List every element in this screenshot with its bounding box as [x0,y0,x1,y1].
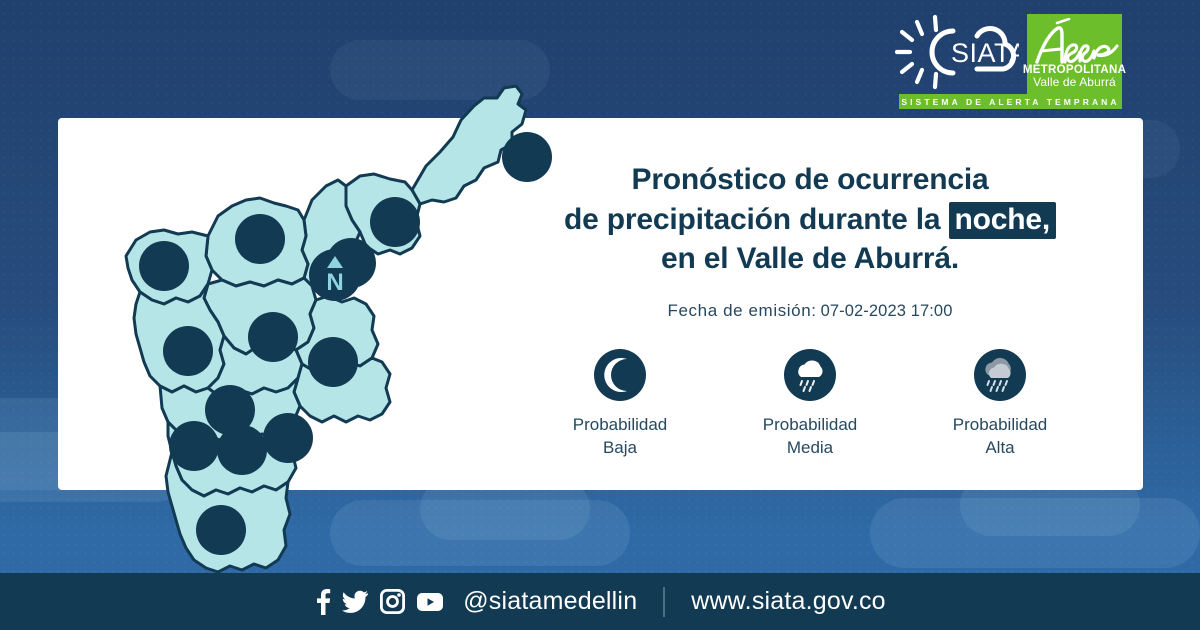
marker-bello[interactable] [248,312,298,362]
legend-alta-line2: Alta [953,437,1048,460]
marker-san-pedro[interactable] [235,214,285,264]
issued-label: Fecha de emisión: [668,301,817,320]
valle-de-aburra-map: N [60,40,530,580]
siata-wordmark: SIATA [951,38,1019,68]
legend-caption-baja: Probabilidad Baja [573,414,668,460]
marker-la-estrella[interactable] [217,425,267,475]
page-title: Pronóstico de ocurrencia de precipitació… [470,160,1150,279]
siata-logo: SIATA [891,14,1019,90]
legend-item-media: Probabilidad Media [715,349,905,460]
legend-item-baja: Probabilidad Baja [525,349,715,460]
marker-caldas[interactable] [196,505,246,555]
marker-medellin[interactable] [308,337,358,387]
map-svg: N [60,40,530,580]
title-line-2: de precipitación durante la noche, [470,200,1150,240]
compass-label: N [326,269,343,296]
social-handle[interactable]: @siatamedellin [463,587,637,616]
twitter-icon[interactable] [342,590,369,614]
marker-sabaneta[interactable] [169,421,219,471]
title-line-2-text: de precipitación durante la [564,203,949,236]
legend-caption-alta: Probabilidad Alta [953,414,1048,460]
social-links [314,588,444,616]
logo-group: SIATA METROPOLITANA Valle de Aburrá [891,14,1122,94]
forecast-content: Pronóstico de ocurrencia de precipitació… [470,160,1150,460]
marker-envigado[interactable] [263,413,313,463]
issued-value: 07-02-2023 17:00 [821,302,953,320]
area-script-icon [1027,18,1122,70]
compass-north-icon: N [309,249,361,301]
title-highlight: noche, [949,202,1056,239]
marker-medellin-norte[interactable] [163,326,213,376]
probability-legend: Probabilidad Baja Probabilidad Media [470,349,1150,460]
marker-bello-norte[interactable] [139,241,189,291]
footer-bar: @siatamedellin www.siata.gov.co [0,573,1200,630]
marker-girardota[interactable] [370,197,420,247]
instagram-icon[interactable] [380,589,405,614]
legend-baja-line2: Baja [573,437,668,460]
cloud-moon-rain-icon [784,349,836,401]
legend-caption-media: Probabilidad Media [763,414,858,460]
area-line2: Valle de Aburrá [1033,76,1116,90]
cloud-heavy-rain-icon [974,349,1026,401]
legend-baja-line1: Probabilidad [573,414,668,437]
legend-media-line1: Probabilidad [763,414,858,437]
legend-media-line2: Media [763,437,858,460]
issued-date: Fecha de emisión:07-02-2023 17:00 [470,301,1150,321]
title-line-3: en el Valle de Aburrá. [470,239,1150,279]
website-link[interactable]: www.siata.gov.co [691,587,885,616]
moon-icon [594,349,646,401]
legend-alta-line1: Probabilidad [953,414,1048,437]
tagline-text: SISTEMA DE ALERTA TEMPRANA [901,97,1119,107]
footer-divider [663,587,665,617]
legend-item-alta: Probabilidad Alta [905,349,1095,460]
title-line-1: Pronóstico de ocurrencia [470,160,1150,200]
area-metropolitana-logo: METROPOLITANA Valle de Aburrá [1027,14,1122,94]
tagline-bar: SISTEMA DE ALERTA TEMPRANA [899,94,1122,109]
youtube-icon[interactable] [416,591,444,613]
facebook-icon[interactable] [314,588,331,616]
